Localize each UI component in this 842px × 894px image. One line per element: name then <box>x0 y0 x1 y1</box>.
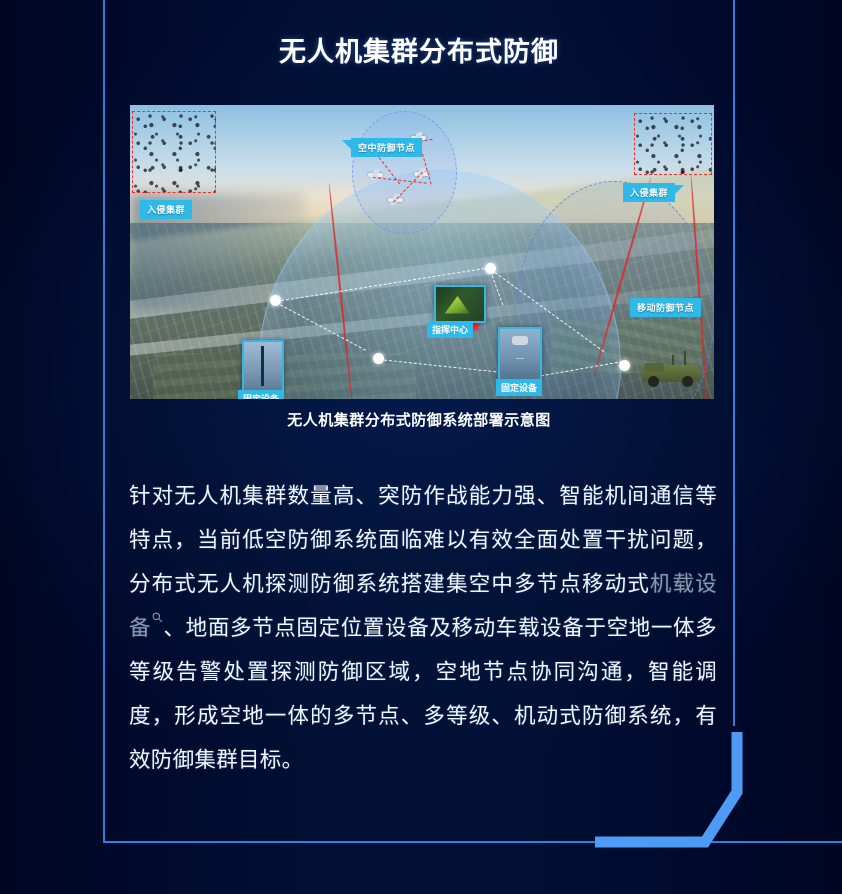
fixed-equipment-thumbnail-right <box>498 327 542 381</box>
diagram-image: ★ 空中防御节点 入侵集群 入侵集群 移动防御节点 指挥中心 固定设备 固定设备 <box>130 105 714 399</box>
callout-intruding-swarm-left: 入侵集群 <box>140 200 192 219</box>
intruding-swarm-box-right <box>634 113 712 175</box>
fixed-equipment-thumbnail-left <box>242 340 284 392</box>
mobile-defense-vehicle <box>642 357 700 387</box>
figure-caption: 无人机集群分布式防御系统部署示意图 <box>103 409 735 430</box>
body-text-part1: 针对无人机集群数量高、突防作战能力强、智能机间通信等特点，当前低空防御系统面临难… <box>129 484 717 596</box>
callout-intruding-swarm-right: 入侵集群 <box>623 183 675 202</box>
search-icon[interactable] <box>152 612 163 623</box>
label-fixed-equipment-right: 固定设备 <box>496 379 542 396</box>
slide-page: 无人机集群分布式防御 <box>0 0 842 894</box>
air-defense-drone-formation <box>364 123 446 217</box>
label-command-center: 指挥中心 <box>427 321 473 338</box>
frame-bottom-border <box>103 841 842 843</box>
body-text-part2: 、地面多节点固定位置设备及移动车载设备于空地一体多等级告警处置探测防御区域，空地… <box>129 616 717 772</box>
body-paragraph: 针对无人机集群数量高、突防作战能力强、智能机间通信等特点，当前低空防御系统面临难… <box>129 474 717 782</box>
intruding-swarm-box-left <box>132 111 216 193</box>
callout-mobile-defense-node: 移动防御节点 <box>630 298 701 317</box>
command-center-thumbnail <box>434 285 486 323</box>
frame-right-border <box>733 0 735 726</box>
page-title: 无人机集群分布式防御 <box>103 30 735 69</box>
callout-air-defense-node: 空中防御节点 <box>351 138 422 157</box>
label-fixed-equipment-left: 固定设备 <box>238 390 284 399</box>
